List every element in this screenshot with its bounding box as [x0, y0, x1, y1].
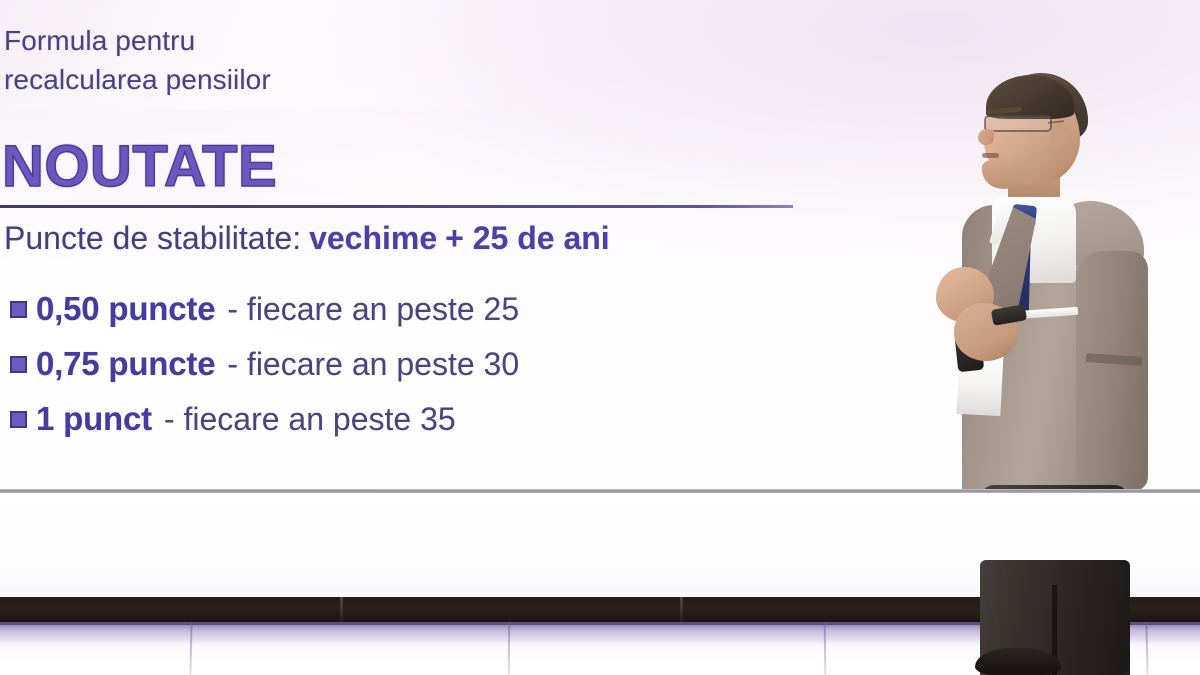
- slide-highlight-title: NOUTATE: [2, 138, 277, 196]
- bullet-value: 1 punct: [36, 400, 152, 438]
- stability-accent-vechime: vechime: [309, 220, 437, 256]
- divider-rule: [0, 205, 793, 208]
- stability-points-line: Puncte de stabilitate:vechime+ 25 de ani: [4, 218, 610, 258]
- list-item: 0,50 puncte - fiecare an peste 25: [10, 290, 820, 345]
- bullet-detail: - fiecare an peste 25: [227, 291, 519, 328]
- list-item: 0,75 puncte - fiecare an peste 30: [10, 345, 820, 400]
- stability-label: Puncte de stabilitate:: [4, 220, 301, 256]
- presenter-nose: [978, 129, 994, 145]
- presenter-ear: [1050, 123, 1068, 148]
- bullet-detail: - fiecare an peste 30: [227, 346, 519, 383]
- bullet-list: 0,50 puncte - fiecare an peste 25 0,75 p…: [10, 290, 820, 455]
- bullet-detail: - fiecare an peste 35: [164, 401, 456, 438]
- slide-content: Formula pentru recalcularea pensiilor NO…: [0, 0, 830, 470]
- stability-accent-years: + 25 de ani: [445, 220, 610, 256]
- broadcast-frame: Formula pentru recalcularea pensiilor NO…: [0, 0, 1200, 675]
- slide-heading: Formula pentru recalcularea pensiilor: [4, 22, 424, 99]
- presenter-mouth: [982, 153, 999, 158]
- square-bullet-icon: [10, 356, 27, 373]
- square-bullet-icon: [10, 411, 27, 428]
- square-bullet-icon: [10, 301, 27, 318]
- bullet-value: 0,75 puncte: [36, 345, 215, 383]
- slide-heading-line-2: recalcularea pensiilor: [4, 61, 424, 100]
- bullet-value: 0,50 puncte: [36, 290, 215, 328]
- glasses-icon: [984, 115, 1052, 132]
- presenter-left-shoe: [975, 648, 1061, 675]
- presenter-arm: [1076, 251, 1148, 491]
- slide-heading-line-1: Formula pentru: [4, 22, 424, 61]
- list-item: 1 punct - fiecare an peste 35: [10, 400, 820, 455]
